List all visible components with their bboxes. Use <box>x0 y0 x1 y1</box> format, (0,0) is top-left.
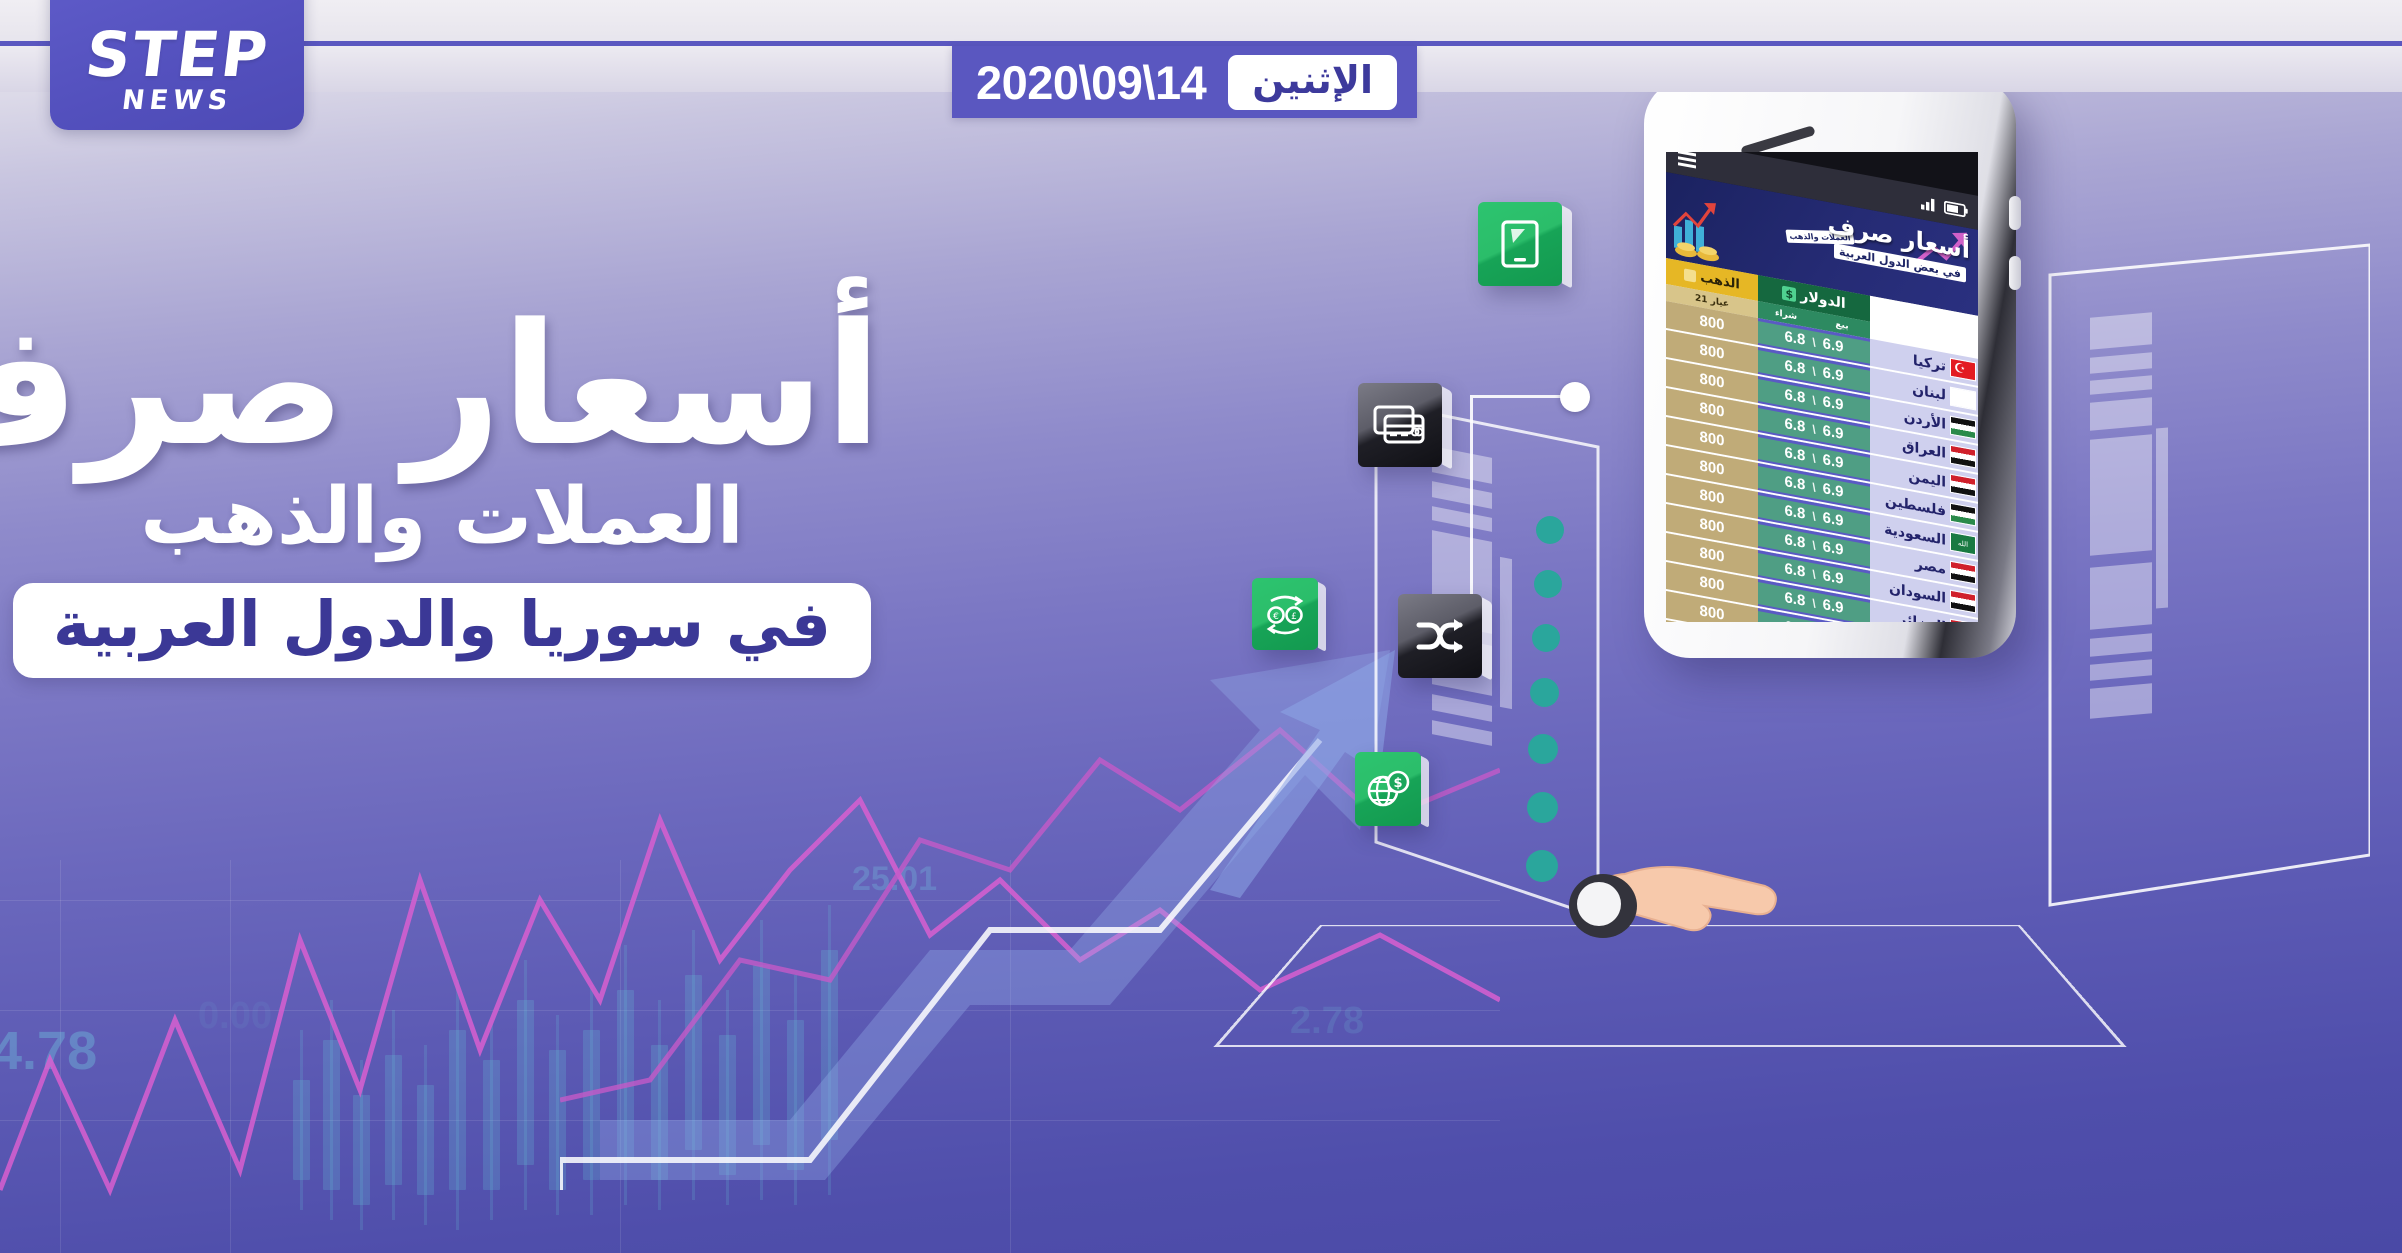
ghost-number-1: 25.01 <box>852 860 937 899</box>
pointing-hand <box>1565 840 1825 970</box>
logo-step-text: STEP <box>82 26 272 85</box>
phone-side-button-1[interactable] <box>2009 196 2021 230</box>
yemen-flag <box>1950 474 1976 498</box>
cell-dollar-buy: 6.8 <box>1784 328 1805 349</box>
currency-exchange-icon-card[interactable]: € £ <box>1252 578 1318 650</box>
logo-news-text: NEWS <box>120 87 234 114</box>
palestine-flag <box>1950 503 1976 527</box>
rate-separator: \ <box>1812 335 1815 350</box>
jordan-flag <box>1950 416 1976 440</box>
dollar-symbol-badge: $ <box>1782 286 1796 303</box>
credit-card-icon <box>1373 404 1427 446</box>
cell-country-label: تركيا <box>1913 352 1946 374</box>
globe-dollar-icon-card[interactable]: $ <box>1355 752 1421 826</box>
turkey-flag: ☪ <box>1950 358 1976 382</box>
cell-dollar-sell: 6.9 <box>1823 451 1844 472</box>
hamburger-menu-icon[interactable] <box>1678 152 1696 168</box>
rate-separator: \ <box>1812 480 1815 495</box>
cell-country-label: السعودية <box>1884 521 1946 548</box>
rate-separator: \ <box>1812 567 1815 582</box>
poster-canvas: 4.78 25.01 2.78 0.00 <box>0 0 2402 1253</box>
mobile-phone-icon-card[interactable] <box>1478 202 1562 286</box>
shuffle-arrows-icon <box>1416 616 1464 656</box>
page-subtitle: العملات والذهب <box>2 475 882 561</box>
region-badge: في سوريا والدول العربية <box>13 583 871 678</box>
header-dollar-label: الدولار <box>1800 288 1845 312</box>
signal-bars-icon <box>1921 195 1938 212</box>
cell-dollar-buy: 6.8 <box>1784 589 1805 610</box>
gold-badge-icon <box>1684 268 1696 282</box>
rate-separator: \ <box>1812 451 1815 466</box>
cell-dollar-buy: 6.8 <box>1784 502 1805 523</box>
rate-separator: \ <box>1812 422 1815 437</box>
cell-country-label: العراق <box>1902 437 1946 461</box>
phone-screen: العملات والذهب أسعار صرف في بعض الدول ال… <box>1666 152 1978 622</box>
ghost-number-3: 0.00 <box>198 995 272 1038</box>
egypt-flag <box>1950 561 1976 585</box>
cell-country-label: الجزائر <box>1898 611 1946 622</box>
currency-exchange-icon: € £ <box>1263 591 1307 637</box>
cell-dollar-sell: 6.9 <box>1823 335 1844 356</box>
cell-country-label: الأردن <box>1904 409 1946 433</box>
rate-separator: \ <box>1812 364 1815 379</box>
headline-block: أسعار صرف العملات والذهب في سوريا والدول… <box>2 300 882 678</box>
ghost-number-0: 4.78 <box>0 1020 97 1082</box>
rate-separator: \ <box>1812 509 1815 524</box>
brand-logo[interactable]: STEP NEWS <box>50 0 304 130</box>
cell-dollar-sell: 6.9 <box>1823 480 1844 501</box>
page-title: أسعار صرف <box>2 300 882 471</box>
rate-separator: \ <box>1812 393 1815 408</box>
date-value: 2020\09\14 <box>976 55 1206 110</box>
svg-text:£: £ <box>1291 612 1297 622</box>
saudi-flag: الله <box>1950 532 1976 556</box>
connector-knob <box>1560 382 1590 412</box>
cell-dollar-sell: 6.9 <box>1823 422 1844 443</box>
cell-country-label: مصر <box>1915 556 1946 578</box>
rates-table: الدولار $ الذهب بيع شراء <box>1666 258 1978 622</box>
cell-dollar-buy: 6.8 <box>1784 357 1805 378</box>
cell-dollar-buy: 6.8 <box>1784 618 1805 622</box>
cell-country-label: فلسطين <box>1885 492 1946 519</box>
phone-side-button-2[interactable] <box>2009 256 2021 290</box>
sudan-flag <box>1950 590 1976 614</box>
rate-separator: \ <box>1812 538 1815 553</box>
banner-gold-chart-icon <box>1670 191 1736 269</box>
mobile-phone-icon <box>1499 219 1541 269</box>
cell-dollar-sell: 6.9 <box>1823 596 1844 617</box>
day-chip: الإثنين <box>1228 55 1397 110</box>
cell-dollar-sell: 6.9 <box>1823 364 1844 385</box>
shuffle-icon-card[interactable] <box>1398 594 1482 678</box>
credit-card-icon-card[interactable] <box>1358 383 1442 467</box>
cell-dollar-buy: 6.8 <box>1784 386 1805 407</box>
cell-dollar-sell: 6.9 <box>1823 509 1844 530</box>
battery-icon <box>1944 200 1968 217</box>
big-blue-arrow <box>600 620 1480 1220</box>
cell-dollar-buy: 6.8 <box>1784 560 1805 581</box>
svg-text:€: € <box>1273 612 1279 622</box>
cell-dollar-buy: 6.8 <box>1784 473 1805 494</box>
globe-dollar-icon: $ <box>1365 767 1411 811</box>
date-strip: 2020\09\14 الإثنين <box>952 46 1417 118</box>
cell-country-label: السودان <box>1889 580 1946 607</box>
cell-dollar-sell: 6.9 <box>1823 393 1844 414</box>
cell-country-label: اليمن <box>1908 467 1946 490</box>
cell-dollar-buy: 6.8 <box>1784 415 1805 436</box>
rate-separator: \ <box>1812 596 1815 611</box>
cell-country-label: لبنان <box>1912 381 1946 403</box>
header-gold-label: الذهب <box>1700 270 1740 292</box>
lebanon-flag <box>1950 387 1976 411</box>
cell-dollar-sell: 6.9 <box>1823 567 1844 588</box>
phone-mockup: العملات والذهب أسعار صرف في بعض الدول ال… <box>1644 78 2016 658</box>
cell-dollar-buy: 6.8 <box>1784 531 1805 552</box>
algeria-flag: ☪ <box>1950 619 1976 622</box>
connector-line <box>1470 395 1575 595</box>
top-band <box>0 0 2402 43</box>
cell-dollar-buy: 6.8 <box>1784 444 1805 465</box>
cell-dollar-sell: 6.9 <box>1823 538 1844 559</box>
iraq-flag <box>1950 445 1976 469</box>
svg-text:$: $ <box>1393 776 1402 791</box>
